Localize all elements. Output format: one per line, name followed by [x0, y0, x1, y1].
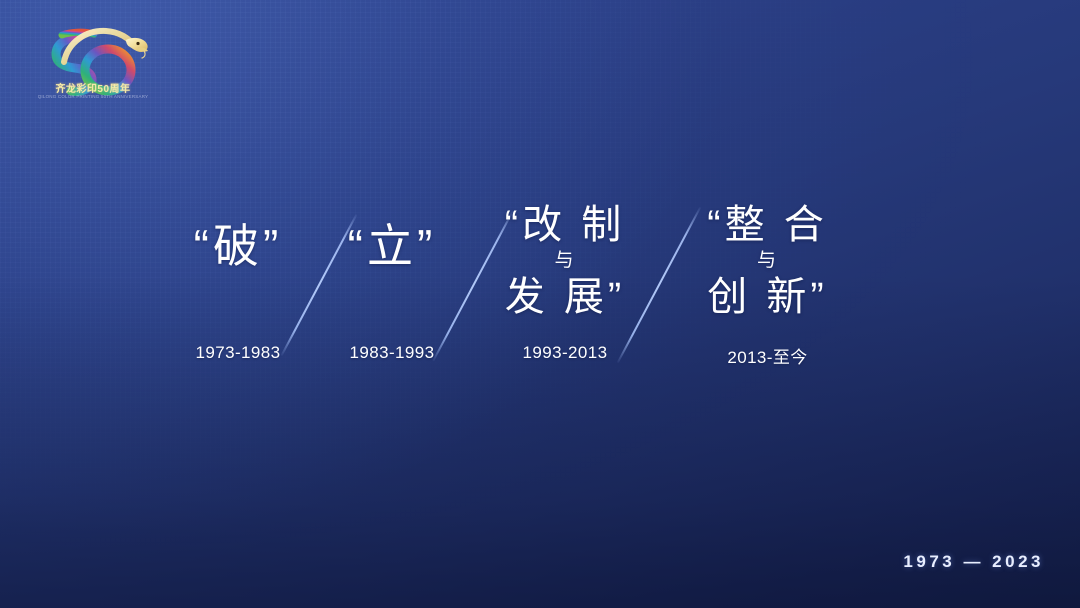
- timeline: “破” 1973-1983 “立” 1983-1993 “改 制 与 发 展” …: [0, 195, 1080, 375]
- phase-2-title: “立”: [322, 217, 462, 275]
- footer-year-range: 1973 — 2023: [903, 552, 1044, 572]
- phase-4-title: “整 合 与 创 新”: [690, 202, 845, 320]
- slide-canvas: 齐龙彩印50周年 QILONG COLOR PRINTING 50TH ANNI…: [0, 0, 1080, 608]
- logo-subcaption: QILONG COLOR PRINTING 50TH ANNIVERSARY: [34, 94, 152, 99]
- phase-1-title: “破”: [168, 217, 308, 275]
- phase-1-date: 1973-1983: [168, 343, 308, 363]
- phase-4-date: 2013-至今: [690, 343, 845, 368]
- phase-3-title: “改 制 与 发 展”: [490, 202, 640, 320]
- phase-3-title-line-3: 发 展”: [490, 274, 640, 320]
- phase-3-date: 1993-2013: [490, 343, 640, 363]
- anniversary-logo: 齐龙彩印50周年 QILONG COLOR PRINTING 50TH ANNI…: [34, 18, 152, 112]
- phase-4-title-line-2: 与: [690, 248, 845, 274]
- phase-4-title-line-1: “整 合: [690, 202, 845, 248]
- phase-3-title-line-2: 与: [490, 248, 640, 274]
- phase-2-date: 1983-1993: [322, 343, 462, 363]
- logo-caption: 齐龙彩印50周年: [34, 80, 152, 95]
- phase-3-title-line-1: “改 制: [490, 202, 640, 248]
- phase-4-title-line-3: 创 新”: [690, 274, 845, 320]
